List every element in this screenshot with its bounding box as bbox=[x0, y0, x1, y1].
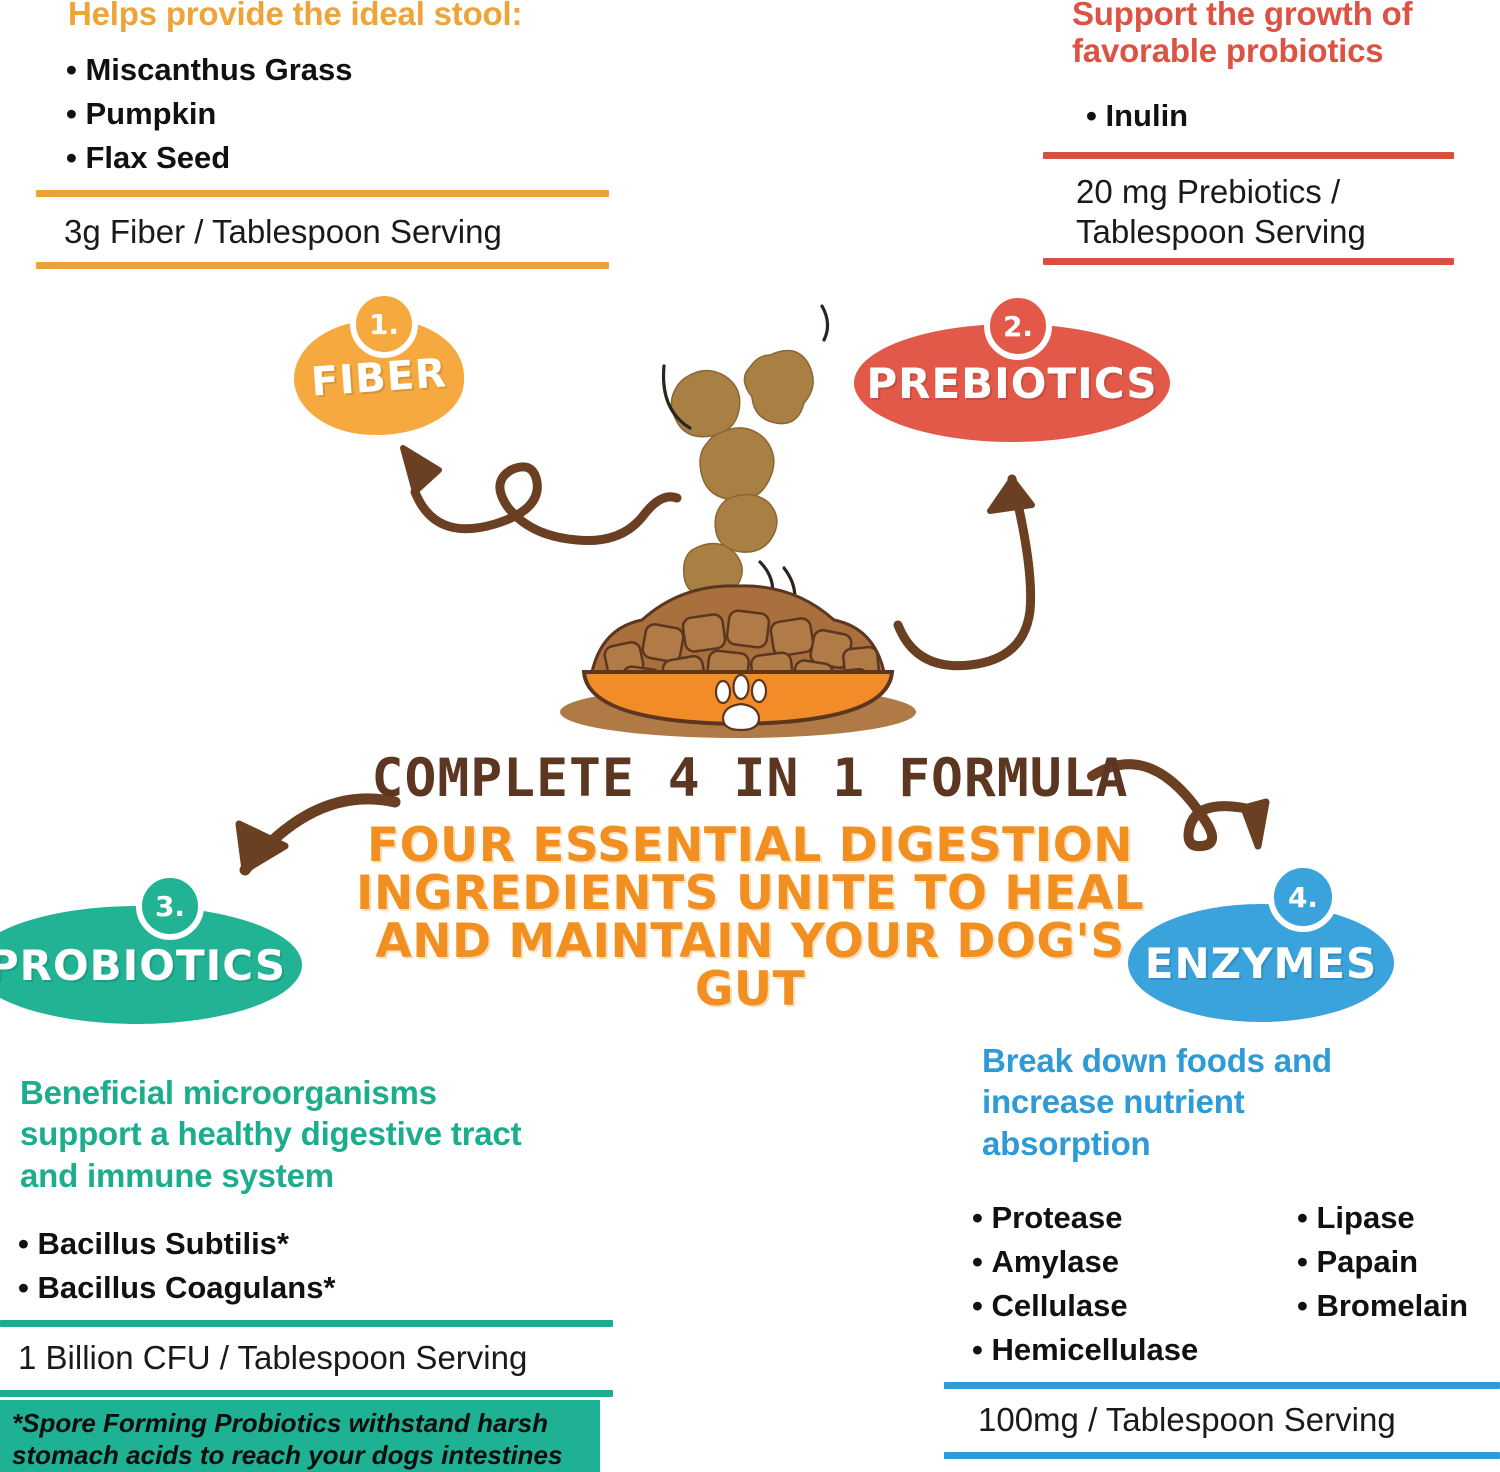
formula-subtitle-line: AND MAINTAIN YOUR DOG'S GUT bbox=[330, 918, 1170, 1014]
list-item: • Lipase bbox=[1297, 1196, 1500, 1240]
bullet-dot: • bbox=[66, 52, 85, 87]
enzymes-dose: 100mg / Tablespoon Serving bbox=[978, 1400, 1498, 1440]
arrow-to-fiber bbox=[375, 432, 715, 592]
badge-enzymes[interactable]: ENZYMES 4. bbox=[1128, 862, 1394, 1022]
bullet-dot: • bbox=[1086, 98, 1105, 133]
bullet-dot: • bbox=[66, 96, 85, 131]
prebiotics-dose: 20 mg Prebiotics / Tablespoon Serving bbox=[1076, 172, 1476, 251]
badge-enzymes-label: ENZYMES bbox=[1145, 939, 1377, 988]
badge-fiber-number: 1. bbox=[350, 290, 418, 358]
badge-prebiotics-number: 2. bbox=[984, 292, 1052, 360]
list-item: • Bromelain bbox=[1297, 1284, 1500, 1328]
list-item: • Amylase bbox=[972, 1240, 1282, 1284]
prebiotics-rule-bottom bbox=[1043, 258, 1454, 265]
list-item: • Protease bbox=[972, 1196, 1282, 1240]
formula-subtitle: FOUR ESSENTIAL DIGESTION INGREDIENTS UNI… bbox=[330, 822, 1170, 1014]
enzymes-bullet-list-col1: • Protease • Amylase • Cellulase • Hemic… bbox=[972, 1196, 1282, 1372]
prebiotics-heading: Support the growth of favorable probioti… bbox=[1072, 0, 1492, 70]
fiber-bullet-list: • Miscanthus Grass • Pumpkin • Flax Seed bbox=[66, 48, 626, 180]
enzymes-rule-bottom bbox=[944, 1452, 1500, 1459]
fiber-heading: Helps provide the ideal stool: bbox=[68, 0, 628, 33]
list-item: • Bacillus Subtilis* bbox=[18, 1222, 578, 1266]
bullet-dot: • bbox=[1297, 1244, 1316, 1279]
formula-subtitle-line: FOUR ESSENTIAL DIGESTION bbox=[330, 822, 1170, 870]
enzymes-heading: Break down foods and increase nutrient a… bbox=[982, 1040, 1412, 1164]
list-item: • Cellulase bbox=[972, 1284, 1282, 1328]
bullet-dot: • bbox=[18, 1226, 37, 1261]
list-item: • Miscanthus Grass bbox=[66, 48, 626, 92]
badge-enzymes-number: 4. bbox=[1268, 862, 1338, 932]
badge-prebiotics-label: PREBIOTICS bbox=[866, 359, 1157, 408]
badge-probiotics[interactable]: PROBIOTICS 3. bbox=[0, 872, 302, 1024]
list-item: • Inulin bbox=[1086, 94, 1486, 138]
enzymes-rule-top bbox=[944, 1382, 1500, 1389]
list-item: • Flax Seed bbox=[66, 136, 626, 180]
bullet-dot: • bbox=[18, 1270, 37, 1305]
bullet-dot: • bbox=[972, 1200, 991, 1235]
arrow-to-prebiotics bbox=[872, 443, 1072, 688]
badge-probiotics-number: 3. bbox=[136, 872, 204, 940]
infographic-canvas: Helps provide the ideal stool: • Miscant… bbox=[0, 0, 1500, 1472]
list-item: • Bacillus Coagulans* bbox=[18, 1266, 578, 1310]
bullet-dot: • bbox=[1297, 1200, 1316, 1235]
prebiotics-bullet-list: • Inulin bbox=[1086, 94, 1486, 138]
bullet-dot: • bbox=[972, 1332, 991, 1367]
badge-prebiotics[interactable]: PREBIOTICS 2. bbox=[854, 292, 1170, 442]
probiotics-footnote: *Spore Forming Probiotics withstand hars… bbox=[0, 1400, 600, 1472]
bullet-dot: • bbox=[1297, 1288, 1316, 1323]
enzymes-bullet-list-col2: • Lipase • Papain • Bromelain bbox=[1297, 1196, 1500, 1328]
list-item: • Pumpkin bbox=[66, 92, 626, 136]
formula-title: COMPLETE 4 IN 1 FORMULA bbox=[330, 748, 1170, 809]
probiotics-dose: 1 Billion CFU / Tablespoon Serving bbox=[18, 1338, 618, 1378]
formula-subtitle-line: INGREDIENTS UNITE TO HEAL bbox=[330, 870, 1170, 918]
dog-food-bowl bbox=[548, 580, 928, 745]
bullet-dot: • bbox=[972, 1244, 991, 1279]
probiotics-bullet-list: • Bacillus Subtilis* • Bacillus Coagulan… bbox=[18, 1222, 578, 1310]
badge-probiotics-label: PROBIOTICS bbox=[0, 941, 286, 990]
bullet-dot: • bbox=[66, 140, 85, 175]
bullet-dot: • bbox=[972, 1288, 991, 1323]
fiber-rule-top bbox=[36, 190, 609, 197]
fiber-dose: 3g Fiber / Tablespoon Serving bbox=[64, 212, 624, 252]
probiotics-rule-bottom bbox=[0, 1390, 613, 1397]
badge-fiber-label: FIBER bbox=[310, 350, 449, 405]
probiotics-heading: Beneficial microorganisms support a heal… bbox=[20, 1072, 560, 1196]
prebiotics-rule-top bbox=[1043, 152, 1454, 159]
enzymes-ellipse: ENZYMES bbox=[1128, 904, 1394, 1022]
probiotics-rule-top bbox=[0, 1320, 613, 1327]
badge-fiber[interactable]: FIBER 1. bbox=[294, 290, 464, 435]
list-item: • Papain bbox=[1297, 1240, 1500, 1284]
fiber-rule-bottom bbox=[36, 262, 609, 269]
list-item: • Hemicellulase bbox=[972, 1328, 1282, 1372]
